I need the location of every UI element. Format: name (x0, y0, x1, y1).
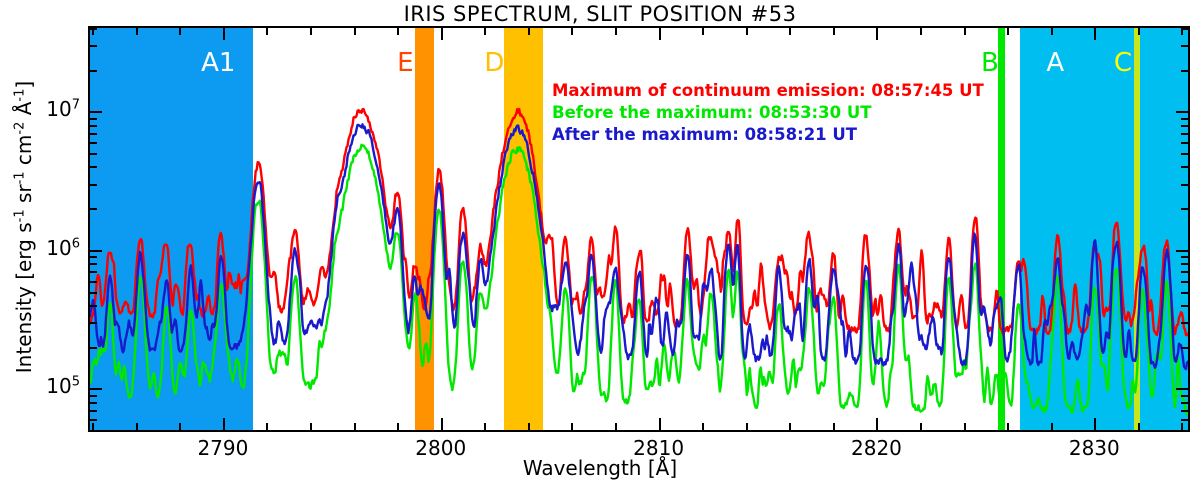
x-tick-2818 (833, 423, 835, 430)
y-tick-right-60000 (1181, 419, 1188, 421)
y-tick-7000000 (90, 133, 97, 135)
y-tick-900000 (90, 256, 97, 258)
x-tick-2820 (876, 418, 878, 430)
x-tick-top-2804 (528, 28, 530, 35)
y-tick-1000000 (90, 250, 102, 252)
y-tick-right-8000000 (1181, 125, 1188, 127)
x-tick-top-2812 (702, 28, 704, 35)
y-tick-200000 (90, 347, 97, 349)
x-axis-title: Wavelength [Å] (0, 456, 1200, 480)
y-axis-title-text: Intensity [erg s-1 sr-1 cm-2 Å-1] (12, 81, 36, 373)
y-tick-90000 (90, 395, 97, 397)
band-label-a1: A1 (201, 50, 235, 76)
x-tick-top-2822 (920, 28, 922, 35)
x-tick-top-2828 (1051, 28, 1053, 35)
x-tick-top-2794 (310, 28, 312, 35)
y-tick-50000 (90, 430, 97, 432)
x-tick-top-2816 (789, 28, 791, 35)
y-tick-right-9000000 (1181, 118, 1188, 120)
x-tick-2832 (1138, 423, 1140, 430)
y-tick-right-5000000 (1181, 153, 1188, 155)
x-tick-2812 (702, 423, 704, 430)
y-tick-20000000 (90, 70, 97, 72)
page-title: IRIS SPECTRUM, SLIT POSITION #53 (0, 2, 1200, 26)
y-tick-right-400000 (1181, 305, 1188, 307)
y-tick-300000 (90, 322, 97, 324)
y-tick-10000000 (90, 111, 102, 113)
y-tick-right-50000 (1181, 430, 1188, 432)
x-tick-top-2786 (136, 28, 138, 35)
legend-item-2: After the maximum: 08:58:21 UT (552, 124, 984, 146)
x-tick-top-2792 (266, 28, 268, 35)
y-tick-right-600000 (1181, 281, 1188, 283)
x-tick-top-2826 (1007, 28, 1009, 35)
x-tick-2814 (746, 423, 748, 430)
x-tick-2828 (1051, 423, 1053, 430)
band-label-b: B (981, 50, 999, 76)
y-tick-right-4000000 (1181, 166, 1188, 168)
x-tick-2826 (1007, 423, 1009, 430)
x-tick-2804 (528, 423, 530, 430)
x-tick-2810 (659, 418, 661, 430)
y-tick-100000 (90, 388, 102, 390)
x-tick-top-2808 (615, 28, 617, 35)
y-tick-700000 (90, 271, 97, 273)
x-tick-2834 (1181, 423, 1183, 430)
y-tick-30000000 (90, 45, 97, 47)
y-tick-right-3000000 (1181, 184, 1188, 186)
x-tick-2796 (354, 423, 356, 430)
x-tick-top-2810 (659, 28, 661, 40)
y-tick-right-7000000 (1181, 133, 1188, 135)
y-tick-right-900000 (1181, 256, 1188, 258)
y-tick-6000000 (90, 142, 97, 144)
band-label-e: E (397, 50, 413, 76)
series-after (90, 124, 1188, 369)
x-tick-2788 (179, 423, 181, 430)
y-tick-right-80000 (1181, 402, 1188, 404)
legend-item-1: Before the maximum: 08:53:30 UT (552, 102, 984, 124)
x-tick-2790 (223, 418, 225, 430)
x-tick-top-2788 (179, 28, 181, 35)
band-label-a: A (1046, 50, 1064, 76)
y-tick-5000000 (90, 153, 97, 155)
x-tick-2822 (920, 423, 922, 430)
y-tick-80000 (90, 402, 97, 404)
x-tick-2786 (136, 423, 138, 430)
x-tick-2806 (571, 423, 573, 430)
x-tick-2816 (789, 423, 791, 430)
y-tick-600000 (90, 281, 97, 283)
y-tick-60000 (90, 419, 97, 421)
x-tick-2808 (615, 423, 617, 430)
y-axis-title: Intensity [erg s-1 sr-1 cm-2 Å-1] (12, 17, 36, 437)
x-tick-top-2790 (223, 28, 225, 40)
y-tick-8000000 (90, 125, 97, 127)
y-tick-right-40000000 (1181, 28, 1188, 30)
x-tick-top-2798 (397, 28, 399, 35)
y-tick-4000000 (90, 166, 97, 168)
y-tick-right-70000 (1181, 410, 1188, 412)
y-tick-3000000 (90, 184, 97, 186)
x-tick-top-2806 (571, 28, 573, 35)
x-tick-top-2802 (484, 28, 486, 35)
y-tick-800000 (90, 263, 97, 265)
y-tick-right-100000 (1176, 388, 1188, 390)
x-tick-top-2814 (746, 28, 748, 35)
y-tick-500000 (90, 292, 97, 294)
y-tick-right-90000 (1181, 395, 1188, 397)
x-tick-2800 (441, 418, 443, 430)
y-tick-right-30000000 (1181, 45, 1188, 47)
y-tick-9000000 (90, 118, 97, 120)
x-tick-top-2800 (441, 28, 443, 40)
y-tick-right-200000 (1181, 347, 1188, 349)
y-tick-right-20000000 (1181, 70, 1188, 72)
y-tick-right-1000000 (1176, 250, 1188, 252)
spectrum-figure: IRIS SPECTRUM, SLIT POSITION #53 A1EDBAC… (0, 0, 1200, 487)
x-tick-2794 (310, 423, 312, 430)
y-tick-right-700000 (1181, 271, 1188, 273)
y-tick-right-500000 (1181, 292, 1188, 294)
y-tick-right-10000000 (1176, 111, 1188, 113)
y-tick-70000 (90, 410, 97, 412)
y-tick-right-300000 (1181, 322, 1188, 324)
y-tick-right-800000 (1181, 263, 1188, 265)
y-tick-2000000 (90, 208, 97, 210)
x-tick-top-2820 (876, 28, 878, 40)
x-tick-2792 (266, 423, 268, 430)
band-label-c: C (1114, 50, 1132, 76)
x-tick-2784 (92, 423, 94, 430)
x-tick-top-2818 (833, 28, 835, 35)
y-tick-right-6000000 (1181, 142, 1188, 144)
x-tick-top-2832 (1138, 28, 1140, 35)
x-tick-2798 (397, 423, 399, 430)
y-tick-40000000 (90, 28, 97, 30)
x-tick-2824 (964, 423, 966, 430)
x-tick-2830 (1094, 418, 1096, 430)
legend-item-0: Maximum of continuum emission: 08:57:45 … (552, 80, 984, 102)
y-tick-right-2000000 (1181, 208, 1188, 210)
legend: Maximum of continuum emission: 08:57:45 … (552, 80, 984, 146)
y-tick-400000 (90, 305, 97, 307)
x-tick-top-2796 (354, 28, 356, 35)
x-tick-top-2824 (964, 28, 966, 35)
x-tick-top-2830 (1094, 28, 1096, 40)
band-label-d: D (484, 50, 504, 76)
x-tick-2802 (484, 423, 486, 430)
